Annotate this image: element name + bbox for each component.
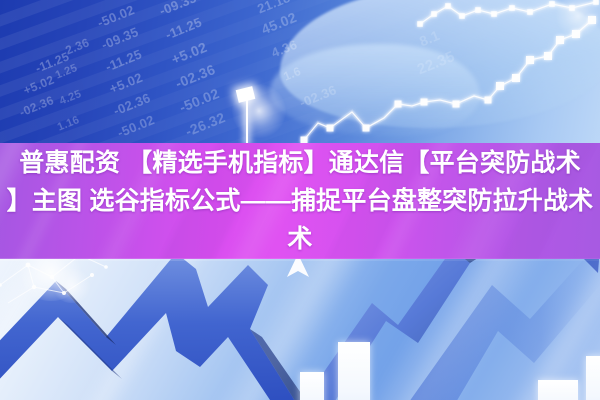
chart-node-marker (526, 56, 534, 64)
bar-column (586, 356, 600, 400)
chart-node-marker (327, 125, 334, 132)
chart-node-marker (588, 16, 596, 24)
chart-node-marker (593, 0, 599, 5)
chart-node-marker (475, 7, 481, 13)
bar-column (538, 380, 578, 400)
chart-line-glow (304, 20, 592, 140)
bar-column (338, 342, 370, 400)
chart-node-marker (527, 9, 533, 15)
headline-line-1: 普惠配资 【精选手机指标】通达信【平台突防战术 (19, 144, 581, 182)
headline-text-block: 普惠配资 【精选手机指标】通达信【平台突防战术 】主图 选谷指标公式——捕捉平台… (0, 143, 600, 259)
chart-node-marker (549, 1, 555, 7)
chart-node-marker (459, 13, 465, 19)
headline-line-2: 】主图 选谷指标公式——捕捉平台盘整突防拉升战术 (7, 182, 594, 220)
chart-node-marker (431, 11, 437, 17)
chart-line (304, 20, 592, 140)
chart-node-marker (491, 11, 497, 17)
sparkle-network-icon (0, 259, 134, 321)
chart-node-marker (485, 97, 492, 104)
top-blue-panel: -11.25+5.02-02.361.162.361.254.25-50.02-… (0, 0, 600, 150)
banner-stage: -11.25+5.02-02.361.162.361.254.25-50.02-… (0, 0, 600, 400)
up-arrow-icon (286, 259, 310, 279)
bar-column (300, 372, 324, 400)
chart-node-marker (363, 125, 370, 132)
chart-node-marker (496, 82, 504, 90)
chart-node-marker (421, 99, 428, 106)
bottom-light-panel (0, 259, 600, 400)
chart-node-marker (417, 21, 423, 27)
chart-node-marker (544, 52, 552, 60)
chart-node-marker (395, 101, 402, 108)
glow-line-chart (0, 0, 600, 150)
chart-node-marker (556, 36, 564, 44)
chart-node-marker (569, 5, 575, 11)
headline-band: 普惠配资 【精选手机指标】通达信【平台突防战术 】主图 选谷指标公式——捕捉平台… (0, 143, 600, 259)
chart-node-marker (453, 101, 460, 108)
marker-stem (246, 98, 248, 144)
chart-node-marker (445, 3, 451, 9)
headline-line-3: 术 (287, 220, 312, 258)
chart-node-marker (512, 74, 520, 82)
chart-node-marker (509, 5, 515, 11)
chart-node-marker (572, 30, 580, 38)
